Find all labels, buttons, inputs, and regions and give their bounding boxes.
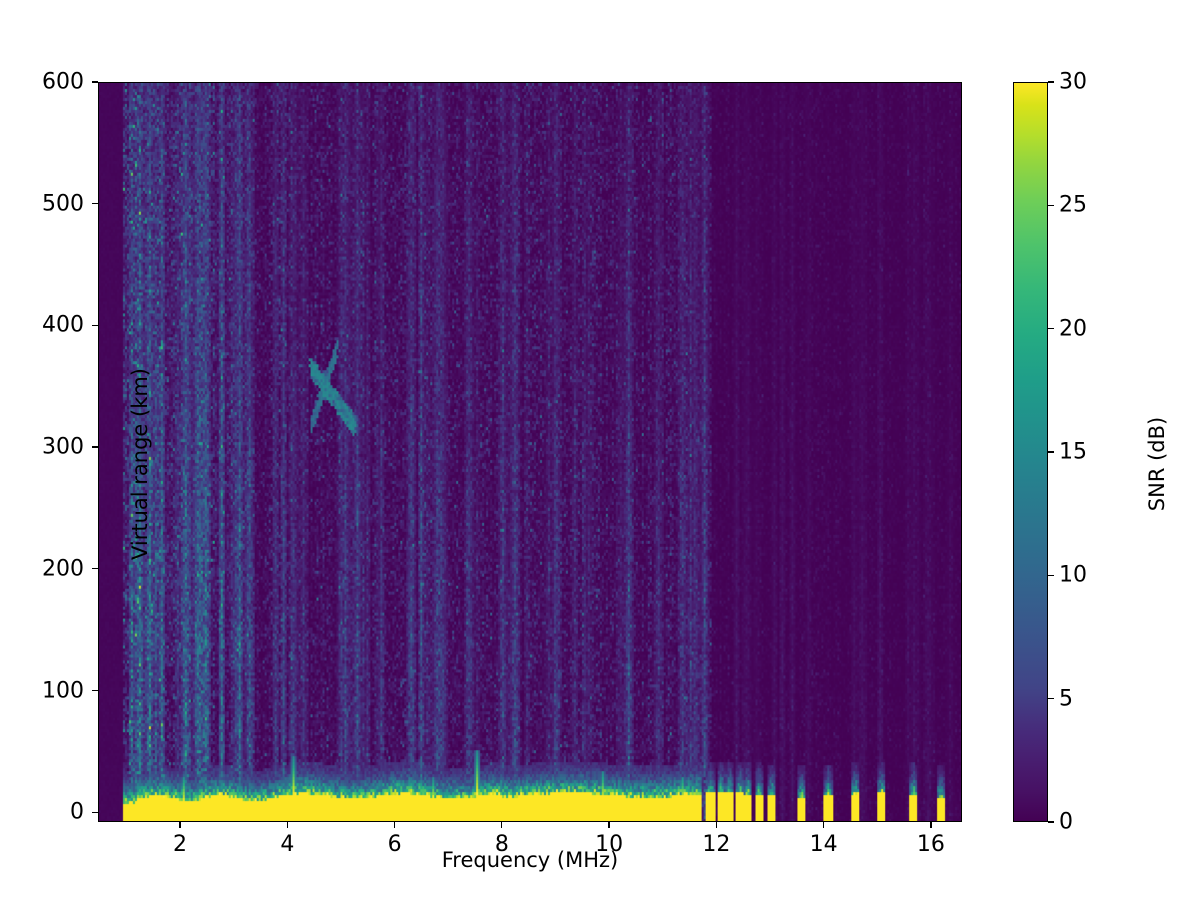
x-axis-label: Frequency (MHz): [98, 848, 962, 872]
colorbar-tick-mark: [1048, 451, 1054, 452]
y-tick-label: 400: [6, 313, 84, 338]
x-tick-mark: [394, 822, 395, 828]
colorbar-tick-label: 5: [1059, 686, 1073, 711]
y-tick-label: 200: [6, 556, 84, 581]
ionogram-figure: IRF Uppsala SDR Ionosonde UP158 2025-09-…: [0, 0, 1200, 900]
x-tick-mark: [608, 822, 609, 828]
colorbar-tick-label: 25: [1059, 193, 1087, 218]
colorbar-label: SNR (dB): [1145, 314, 1169, 614]
x-tick-mark: [716, 822, 717, 828]
colorbar-tick-mark: [1048, 698, 1054, 699]
colorbar-tick-label: 30: [1059, 70, 1087, 95]
y-tick-label: 300: [6, 435, 84, 460]
colorbar-tick-mark: [1048, 328, 1054, 329]
colorbar-tick-label: 0: [1059, 810, 1073, 835]
colorbar-tick-label: 20: [1059, 316, 1087, 341]
colorbar-tick-mark: [1048, 821, 1054, 822]
ionogram-plot-area[interactable]: [98, 82, 962, 822]
y-axis-label: Virtual range (km): [128, 314, 152, 614]
colorbar-tick-mark: [1048, 575, 1054, 576]
x-tick-mark: [179, 822, 180, 828]
x-tick-mark: [930, 822, 931, 828]
colorbar[interactable]: [1013, 82, 1048, 822]
y-tick-label: 100: [6, 678, 84, 703]
y-tick-label: 0: [6, 800, 84, 825]
x-tick-mark: [823, 822, 824, 828]
ionogram-heatmap-canvas[interactable]: [99, 83, 961, 821]
x-tick-mark: [501, 822, 502, 828]
colorbar-tick-label: 15: [1059, 440, 1087, 465]
colorbar-tick-label: 10: [1059, 563, 1087, 588]
x-tick-mark: [287, 822, 288, 828]
